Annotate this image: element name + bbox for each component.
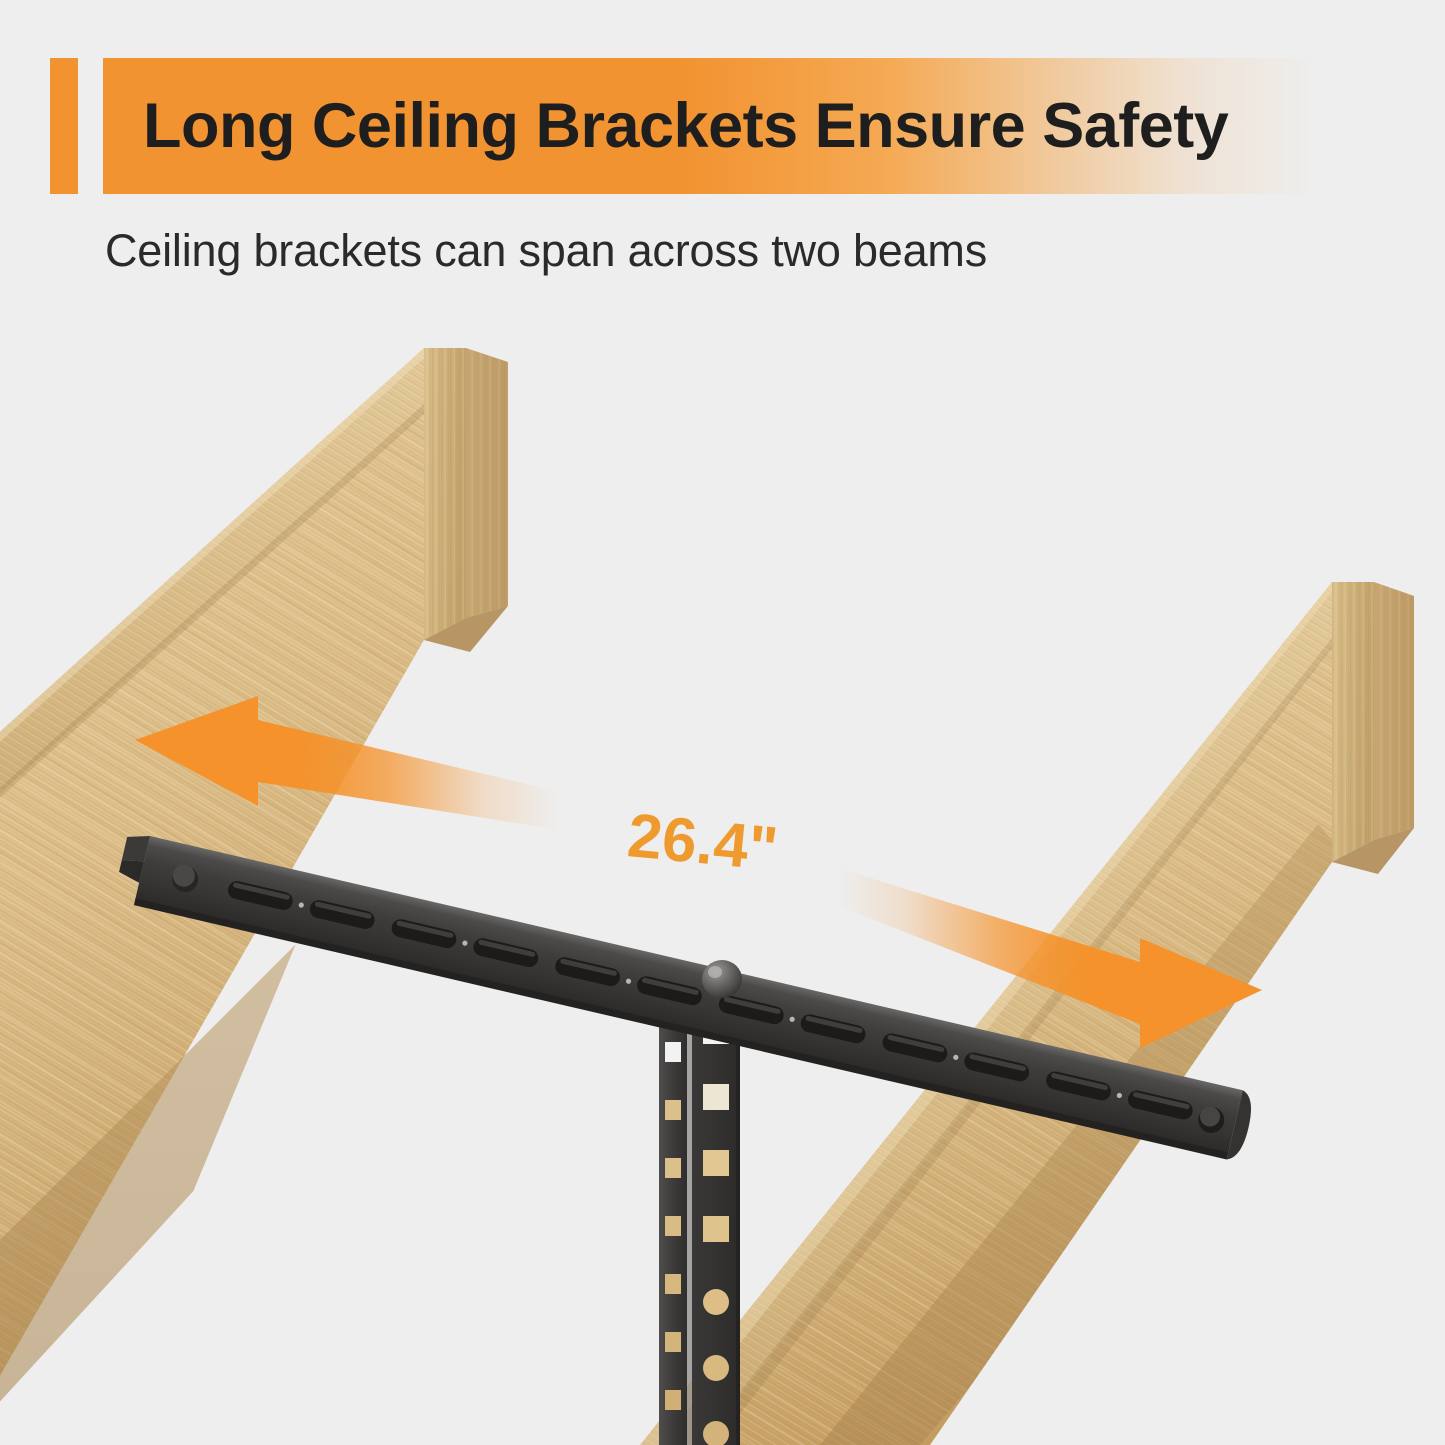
beam-right-end-cap-side: [1374, 582, 1414, 840]
ceiling-bracket-vertical-post: [659, 1000, 740, 1445]
span-arrow-left: [135, 696, 560, 830]
beam-right-end-cap-front: [1332, 582, 1374, 862]
title-accent-bar: [50, 58, 78, 194]
beam-left-end-cap-front: [424, 348, 466, 640]
post-flange-holes: [665, 1042, 681, 1410]
header-block: Long Ceiling Brackets Ensure Safety Ceil…: [0, 0, 1445, 300]
beam-right-end-bottom: [1332, 828, 1414, 874]
beam-right-front-face: [700, 644, 1332, 1445]
span-arrow-right: [838, 868, 1262, 1048]
page-subtitle: Ceiling brackets can span across two bea…: [105, 225, 987, 277]
rail-mount-hole-right: [1196, 1104, 1227, 1135]
bracket-pivot-knob: [702, 960, 742, 998]
beam-left-end-bottom: [424, 606, 508, 652]
beam-left-top-plane: [0, 348, 424, 830]
product-illustration-scene: 26.4": [0, 300, 1445, 1445]
ceiling-bracket-horizontal-rail: [112, 831, 1256, 1163]
page-title: Long Ceiling Brackets Ensure Safety: [143, 58, 1373, 194]
wooden-ceiling-beam-right: [640, 582, 1414, 1445]
beam-left-front-face: [0, 410, 424, 1445]
beam-right-top-plane: [640, 582, 1332, 1445]
beam-left-end-cap-side: [466, 348, 508, 618]
wooden-ceiling-beam-left: [0, 348, 508, 1445]
post-face-round-holes: [703, 1289, 729, 1445]
rail-slot-holes: [226, 879, 1194, 1121]
post-face-square-holes: [703, 1018, 729, 1348]
span-measurement-label: 26.4": [625, 800, 781, 885]
rail-mount-hole-left: [170, 863, 201, 894]
